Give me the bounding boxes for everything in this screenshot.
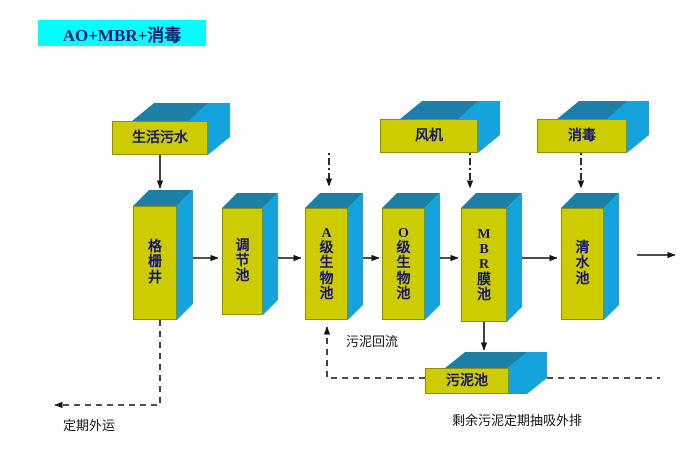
box-front-face: O 级 生 物 池 xyxy=(382,208,425,320)
tank-label: A 级 生 物 池 xyxy=(320,226,334,302)
annotation-periodic-haul-away: 定期外运 xyxy=(63,415,115,434)
box-front-face: M B R 膜 池 xyxy=(461,208,507,322)
box-front-face: A 级 生 物 池 xyxy=(305,208,348,320)
box-front-face: 生活污水 xyxy=(112,121,208,155)
tank-o-level-bio: O 级 生 物 池 xyxy=(382,193,440,320)
box-front-face: 风机 xyxy=(380,119,478,153)
box-front-face: 清 水 池 xyxy=(561,208,604,320)
tank-label: 清 水 池 xyxy=(576,241,590,286)
box-label: 污泥池 xyxy=(446,373,488,388)
tank-label: 调 节 池 xyxy=(236,239,250,284)
box-side-face xyxy=(263,193,278,315)
annotation-text: 污泥回流 xyxy=(346,334,398,349)
tank-grating-well: 格 栅 井 xyxy=(133,190,193,320)
line-periodic-haul-away xyxy=(55,320,160,405)
box-front-face: 格 栅 井 xyxy=(133,206,177,320)
process-flow-diagram: AO+MBR+消毒 生活污水 风机 消毒 格 栅 井 xyxy=(0,0,700,450)
tank-label: M B R 膜 池 xyxy=(477,227,491,303)
box-front-face: 污泥池 xyxy=(425,368,509,394)
box-label: 风机 xyxy=(415,128,443,143)
box-side-face xyxy=(177,190,193,320)
annotation-text: 剩余污泥定期抽吸外排 xyxy=(452,413,582,428)
box-side-face xyxy=(348,193,363,320)
box-side-face xyxy=(604,193,619,320)
box-front-face: 调 节 池 xyxy=(222,208,263,315)
annotation-text: 定期外运 xyxy=(63,418,115,433)
tank-mbr-membrane: M B R 膜 池 xyxy=(461,193,522,322)
box-label: 生活污水 xyxy=(132,130,188,145)
box-side-face xyxy=(507,193,522,322)
box-side-face xyxy=(425,193,440,320)
annotation-sludge-return: 污泥回流 xyxy=(346,331,398,350)
annotation-excess-sludge-discharge: 剩余污泥定期抽吸外排 xyxy=(452,410,582,429)
tank-a-level-bio: A 级 生 物 池 xyxy=(305,193,363,320)
box-label: 消毒 xyxy=(568,128,596,143)
tank-label: O 级 生 物 池 xyxy=(397,226,411,302)
box-front-face: 消毒 xyxy=(537,119,627,153)
tank-label: 格 栅 井 xyxy=(148,240,162,285)
tank-regulating: 调 节 池 xyxy=(222,193,278,315)
tank-clean-water: 清 水 池 xyxy=(561,193,619,320)
